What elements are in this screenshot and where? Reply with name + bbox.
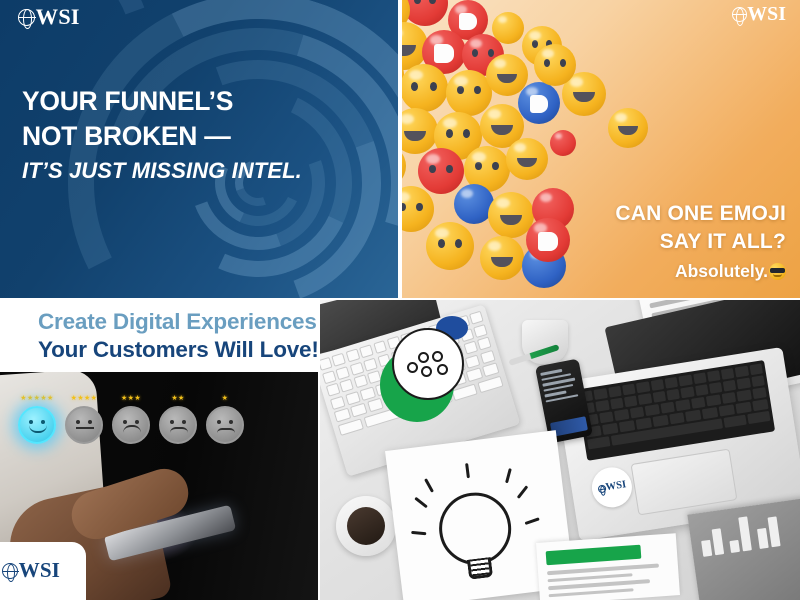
wsi-globe-icon	[2, 563, 18, 579]
panel-funnel[interactable]: WSI YOUR FUNNEL’S NOT BROKEN — IT’S JUST…	[0, 0, 398, 298]
rating-stars-5: ★★★★★	[18, 394, 56, 404]
wsi-wordmark: WSI	[36, 6, 80, 28]
emoji-headline-block: CAN ONE EMOJI SAY IT ALL? Absolutely.	[615, 200, 786, 286]
coffee-mug	[336, 496, 396, 556]
funnel-headline-line1: YOUR FUNNEL’S	[22, 84, 302, 119]
rating-face-wave-icon[interactable]	[159, 406, 197, 444]
wsi-logo-card: WSI	[0, 542, 86, 600]
rating-stars-1: ★	[206, 394, 244, 404]
wsi-logo-reviews: WSI	[2, 560, 60, 581]
panel-desk[interactable]: WSI	[320, 300, 800, 600]
funnel-headline-block: YOUR FUNNEL’S NOT BROKEN — IT’S JUST MIS…	[22, 84, 302, 188]
funnel-headline-line2: NOT BROKEN —	[22, 119, 302, 154]
laptop-trackpad	[631, 448, 738, 515]
wsi-wordmark: WSI	[605, 480, 627, 494]
rating-option-1[interactable]: ★	[206, 394, 244, 444]
emoji-ball-single	[526, 218, 570, 262]
lightbulb-icon	[435, 489, 515, 569]
collage-canvas: WSI YOUR FUNNEL’S NOT BROKEN — IT’S JUST…	[0, 0, 800, 600]
wsi-logo-desk: WSI	[597, 480, 627, 495]
rating-face-angry-icon[interactable]	[206, 406, 244, 444]
panel-emoji[interactable]: WSI CAN ONE EMOJI SAY IT ALL? Absolutely…	[402, 0, 800, 298]
laptop: WSI	[556, 308, 800, 523]
report-page	[536, 533, 680, 600]
network-circle-icon	[392, 328, 464, 400]
emoji-headline-line1: CAN ONE EMOJI	[615, 200, 786, 228]
rating-option-2[interactable]: ★★	[159, 394, 197, 444]
wsi-wordmark: WSI	[747, 5, 786, 25]
emoji-ball-single-3	[608, 108, 648, 148]
panel-reviews[interactable]: Create Digital Experiences Your Customer…	[0, 300, 318, 600]
rating-stars-2: ★★	[159, 394, 197, 404]
wsi-globe-icon	[597, 484, 606, 493]
rating-option-5[interactable]: ★★★★★	[18, 394, 56, 444]
lightbulb-base	[467, 557, 493, 580]
green-highlight-bar	[546, 545, 642, 566]
sunglasses-face-icon	[769, 263, 786, 280]
rating-stars-4: ★★★★	[65, 394, 103, 404]
emoji-ball-single-2	[534, 44, 576, 86]
reviews-headline-line1: Create Digital Experiences	[0, 308, 318, 336]
wsi-logo-emoji: WSI	[732, 5, 786, 25]
reviews-headline-line2: Your Customers Will Love!	[0, 336, 318, 364]
emoji-headline-line2: SAY IT ALL?	[615, 228, 786, 256]
wsi-globe-icon	[732, 7, 747, 22]
rating-scale[interactable]: ★★★★★ ★★★★ ★★★ ★★ ★	[18, 394, 244, 444]
reviews-headline-block: Create Digital Experiences Your Customer…	[0, 308, 318, 364]
wsi-globe-icon	[18, 9, 35, 26]
funnel-headline-line3: IT’S JUST MISSING INTEL.	[22, 154, 302, 188]
rating-face-smile-icon[interactable]	[18, 406, 56, 444]
rating-option-4[interactable]: ★★★★	[65, 394, 103, 444]
wsi-logo-funnel: WSI	[18, 6, 80, 28]
emoji-subline: Absolutely.	[675, 261, 768, 281]
rating-face-frown-icon[interactable]	[112, 406, 150, 444]
chart-page	[687, 498, 800, 600]
wsi-wordmark: WSI	[19, 560, 60, 581]
wsi-logo-sticker: WSI	[589, 464, 635, 510]
rating-stars-3: ★★★	[112, 394, 150, 404]
emoji-subline-row: Absolutely.	[615, 256, 786, 286]
people-network-icon	[407, 350, 449, 378]
rating-option-3[interactable]: ★★★	[112, 394, 150, 444]
rating-face-flat-icon[interactable]	[65, 406, 103, 444]
laptop-keyboard	[576, 360, 775, 461]
